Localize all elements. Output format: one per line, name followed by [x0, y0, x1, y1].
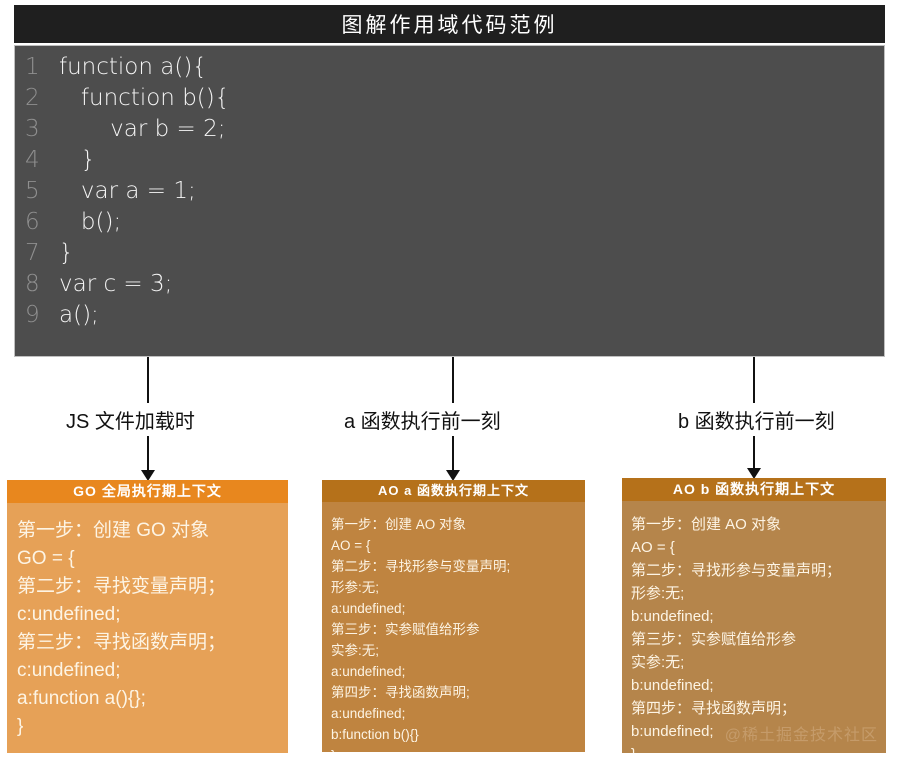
code-line-number: 5 [15, 178, 59, 204]
panel-row: 第二步：寻找形参与变量声明; [331, 556, 576, 577]
code-line-number: 3 [15, 116, 59, 142]
panel-global-context-body: 第一步：创建 GO 对象GO = {第二步：寻找变量声明；c:undefined… [7, 503, 288, 753]
panel-row: 第二步：寻找变量声明； [17, 573, 278, 601]
code-line-text: var b = 2; [59, 116, 226, 142]
panel-row: 第四步：寻找函数声明； [631, 697, 877, 720]
code-line-number: 9 [15, 302, 59, 328]
panel-row: a:undefined; [331, 703, 576, 724]
panel-row: } [17, 713, 278, 741]
code-line-text: b(); [59, 209, 121, 235]
code-line-text: var a = 1; [59, 178, 196, 204]
code-line-number: 6 [15, 209, 59, 235]
code-line: 8var c = 3; [15, 271, 884, 302]
panel-ao-b-context: AO b 函数执行期上下文 第一步：创建 AO 对象AO = {第二步：寻找形参… [622, 478, 886, 753]
code-line-text: var c = 3; [59, 271, 172, 297]
panel-row: c:undefined; [17, 657, 278, 685]
code-line: 4 } [15, 147, 884, 178]
panel-row: b:undefined; [631, 674, 877, 697]
panel-ao-a-context: AO a 函数执行期上下文 第一步：创建 AO 对象AO = {第二步：寻找形参… [322, 480, 585, 752]
code-line-number: 8 [15, 271, 59, 297]
caption-before-a: a 函数执行前一刻 [338, 403, 507, 436]
code-line-text: function b(){ [59, 85, 229, 111]
code-line: 2 function b(){ [15, 85, 884, 116]
panel-row: GO = { [17, 545, 278, 573]
caption-before-b-text: b 函数执行前一刻 [678, 411, 835, 433]
panel-row: a:undefined; [331, 661, 576, 682]
panel-ao-b-context-header: AO b 函数执行期上下文 [622, 478, 886, 501]
code-line: 7} [15, 240, 884, 271]
panel-row: 第三步：实参赋值给形参 [331, 619, 576, 640]
panel-global-context-header: GO 全局执行期上下文 [7, 480, 288, 503]
panel-row: b:function b(){} [331, 724, 576, 745]
panel-row: b:undefined; [631, 605, 877, 628]
panel-ao-b-context-body: 第一步：创建 AO 对象AO = {第二步：寻找形参与变量声明；形参:无;b:u… [622, 501, 886, 753]
panel-row: 实参:无; [331, 640, 576, 661]
code-line-text: } [59, 240, 74, 266]
panel-row: 形参:无; [331, 577, 576, 598]
panel-row: 第一步：创建 GO 对象 [17, 517, 278, 545]
caption-js-load-text: JS 文件加载时 [66, 411, 195, 433]
code-block: 1function a(){2 function b(){3 var b = 2… [14, 45, 885, 357]
caption-before-b: b 函数执行前一刻 [672, 403, 841, 436]
code-line: 6 b(); [15, 209, 884, 240]
panel-row: AO = { [331, 535, 576, 556]
page-title-text: 图解作用域代码范例 [342, 9, 558, 39]
code-line-number: 1 [15, 54, 59, 80]
code-line-number: 4 [15, 147, 59, 173]
panel-row: 第一步：创建 AO 对象 [331, 514, 576, 535]
panel-row: 形参:无; [631, 582, 877, 605]
panel-row: 第三步：寻找函数声明； [17, 629, 278, 657]
code-line: 3 var b = 2; [15, 116, 884, 147]
watermark: @稀土掘金技术社区 [725, 724, 878, 747]
panel-row: AO = { [631, 536, 877, 559]
code-line: 5 var a = 1; [15, 178, 884, 209]
code-line: 9a(); [15, 302, 884, 333]
code-line-text: a(); [59, 302, 99, 328]
panel-ao-a-context-header: AO a 函数执行期上下文 [322, 480, 585, 502]
caption-before-a-text: a 函数执行前一刻 [344, 411, 501, 433]
panel-row: a:undefined; [331, 598, 576, 619]
caption-js-load: JS 文件加载时 [60, 403, 201, 436]
panel-row: 实参:无; [631, 651, 877, 674]
panel-global-context: GO 全局执行期上下文 第一步：创建 GO 对象GO = {第二步：寻找变量声明… [7, 480, 288, 753]
panel-row: 第三步：实参赋值给形参 [631, 628, 877, 651]
code-line-number: 7 [15, 240, 59, 266]
panel-row: 第二步：寻找形参与变量声明； [631, 559, 877, 582]
panel-ao-a-context-body: 第一步：创建 AO 对象AO = {第二步：寻找形参与变量声明;形参:无;a:u… [322, 502, 585, 752]
panel-row: a:function a(){}; [17, 685, 278, 713]
panel-row: c:undefined; [17, 601, 278, 629]
panel-row: } [331, 745, 576, 752]
code-line-number: 2 [15, 85, 59, 111]
code-line: 1function a(){ [15, 54, 884, 85]
code-line-text: function a(){ [59, 54, 207, 80]
panel-row: 第四步：寻找函数声明; [331, 682, 576, 703]
panel-row: 第一步：创建 AO 对象 [631, 513, 877, 536]
code-line-text: } [59, 147, 96, 173]
page-title: 图解作用域代码范例 [14, 5, 885, 43]
